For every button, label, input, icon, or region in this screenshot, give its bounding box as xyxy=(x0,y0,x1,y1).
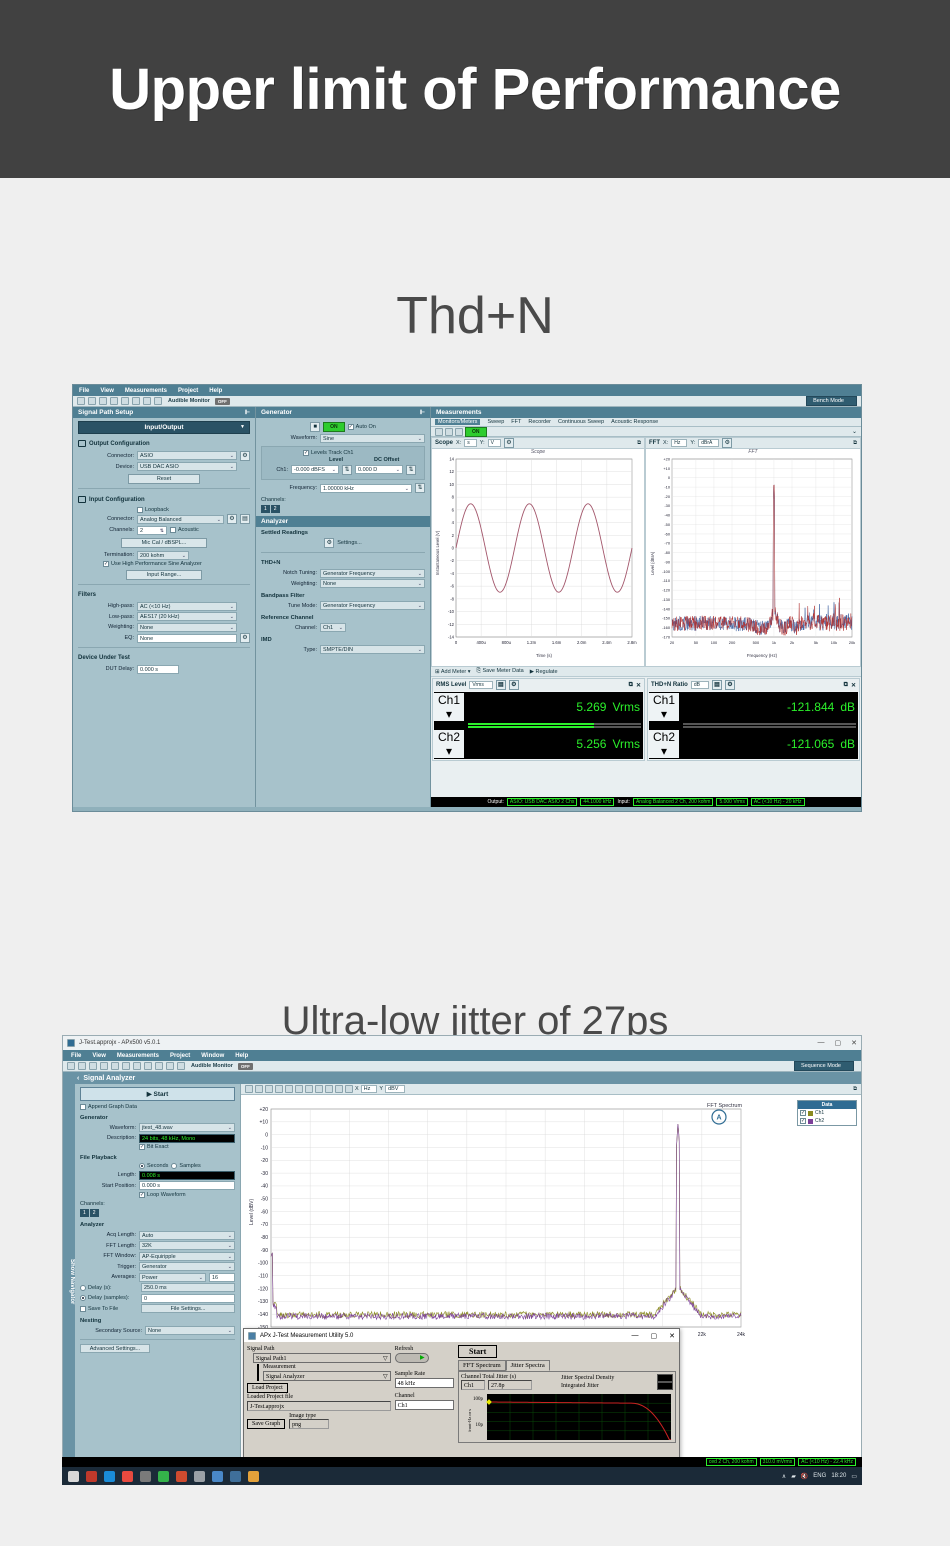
table-view-icon[interactable] xyxy=(315,1085,323,1093)
load-project-button[interactable]: Load Project xyxy=(247,1383,288,1393)
group-label: Filters xyxy=(78,592,96,598)
channel-pill-2[interactable]: 2 xyxy=(271,505,280,513)
jtest-taskbar-icon[interactable] xyxy=(230,1471,241,1482)
graph-x-unit-select[interactable]: Hz xyxy=(361,1085,378,1093)
new-project-icon[interactable] xyxy=(67,1062,75,1070)
checkbox-icon xyxy=(170,527,176,533)
menu-file[interactable]: File xyxy=(71,1053,81,1059)
status-input-filter: AC (<10 Hz) - 20 kHz xyxy=(751,798,805,806)
signal-path-setup-title: Signal Path Setup ⊩ xyxy=(73,407,255,418)
breadcrumb: ‹ Signal Analyzer xyxy=(63,1072,861,1084)
speaker-icon[interactable] xyxy=(177,1062,185,1070)
scope-settings-button[interactable]: ⚙ xyxy=(504,438,514,448)
save-to-file-row: Save To File File Settings... xyxy=(80,1304,235,1313)
svg-text:100: 100 xyxy=(711,640,718,645)
notifications-icon[interactable]: ▭ xyxy=(851,1473,857,1480)
lowpass-select[interactable]: AES17 (20 kHz) ⌄ xyxy=(137,612,237,621)
ch1-dc-stepper[interactable]: ⇅ xyxy=(406,465,416,475)
legend-item-ch2[interactable]: ✓ Ch2 xyxy=(798,1117,856,1125)
delay-seconds-field[interactable]: 250.0 ms xyxy=(141,1283,235,1292)
checkbox-icon xyxy=(80,1306,86,1312)
tab-continuous-sweep[interactable]: Continuous Sweep xyxy=(558,419,604,425)
highpass-row: High-pass: AC (<10 Hz) ⌄ xyxy=(78,602,250,611)
value-number: 5.256 xyxy=(576,737,606,751)
input-connector-settings-button[interactable]: ⚙ xyxy=(227,514,237,524)
menu-help[interactable]: Help xyxy=(209,388,222,394)
fft-plot: +20+100-10-20-30-40-50-60-70-80-90-100-1… xyxy=(646,455,860,661)
svg-text:-12: -12 xyxy=(448,622,455,627)
value-unit: Vrms xyxy=(612,700,640,714)
scope-xlabel: Time (s) xyxy=(536,653,552,658)
scope-y-unit-select[interactable]: V xyxy=(488,439,501,447)
expand-graph-icon[interactable] xyxy=(295,1085,303,1093)
reference-channel-label: Channel: xyxy=(261,625,317,631)
meter-thdn-close-icon[interactable]: ✕ xyxy=(851,682,856,689)
radio-icon xyxy=(80,1285,86,1291)
high-performance-sine-analyzer-checkbox[interactable]: ✓ Use High Performance Sine Analyzer xyxy=(103,561,202,567)
input-connector-row: Connector: Analog Balanced ⌄ ⚙ ▤ xyxy=(78,514,250,524)
scope-popout-icon[interactable]: ⧉ xyxy=(637,440,641,447)
filter-weighting-select[interactable]: None ⌄ xyxy=(137,623,237,632)
meter-rms-unit-select[interactable]: Vrms xyxy=(469,681,492,689)
regulate-button[interactable]: ▶ Regulate xyxy=(530,669,558,675)
panel-label: Measurements xyxy=(436,409,482,416)
menu-view[interactable]: View xyxy=(100,388,114,394)
bit-exact-checkbox[interactable]: ✓ Bit Exact xyxy=(139,1144,169,1150)
open-project-icon[interactable] xyxy=(88,397,96,405)
system-tray: ∧ ▰ 🔇 ENG 18:20 ▭ xyxy=(782,1473,862,1480)
menu-view[interactable]: View xyxy=(92,1053,106,1059)
svg-text:-60: -60 xyxy=(261,1209,268,1215)
zoom-graph-icon[interactable] xyxy=(275,1085,283,1093)
tab-jitter-spectra[interactable]: Jitter Spectra xyxy=(506,1360,550,1371)
sample-rate-field[interactable]: 48 kHz xyxy=(395,1378,454,1388)
save-project-icon[interactable] xyxy=(99,397,107,405)
graph-pair: Scope X: s Y: V ⚙ ⧉ Scope 14121086420-2-… xyxy=(431,437,861,667)
clock[interactable]: 18:20 xyxy=(831,1473,846,1479)
meter-bar-ch2 xyxy=(683,726,856,728)
settings-gear-icon[interactable] xyxy=(100,1062,108,1070)
browser-icon[interactable] xyxy=(86,1471,97,1482)
channel-pill-2[interactable]: 2 xyxy=(90,1209,99,1217)
meter-thdn-name: THD+N Ratio xyxy=(651,682,688,688)
delay-samples-field[interactable]: 0 xyxy=(141,1294,235,1303)
svg-text:10: 10 xyxy=(449,482,454,487)
fft-length-label: FFT Length: xyxy=(80,1243,136,1249)
divider xyxy=(261,552,425,553)
highpass-select[interactable]: AC (<10 Hz) ⌄ xyxy=(137,602,237,611)
value-text: AP-Equiripple xyxy=(142,1254,176,1260)
meter-thdn-unit-select[interactable]: dB xyxy=(691,681,709,689)
dut-delay-field[interactable]: 0.000 s xyxy=(137,665,179,674)
app-icon-5[interactable] xyxy=(140,1471,151,1482)
menu-project[interactable]: Project xyxy=(178,388,198,394)
fft-window-select[interactable]: AP-Equiripple ⌄ xyxy=(139,1252,235,1261)
append-graph-checkbox[interactable]: Append Graph Data xyxy=(80,1104,137,1110)
meter-thdn-popout-icon[interactable]: ⧉ xyxy=(844,682,848,689)
signal-path-icon[interactable] xyxy=(121,397,129,405)
tune-mode-label: Tune Mode: xyxy=(261,603,317,609)
copy-graph-icon[interactable] xyxy=(255,1085,263,1093)
minimize-icon[interactable]: — xyxy=(632,1332,639,1340)
channel-pill-1[interactable]: 1 xyxy=(261,505,270,513)
new-project-icon[interactable] xyxy=(77,397,85,405)
legend-integrated-label: Integrated Jitter xyxy=(561,1383,655,1389)
legend-label-ch1: Ch1 xyxy=(815,1110,824,1116)
meter-thdn-header: THD+N Ratio dB ▤ ⚙ ⧉ ✕ xyxy=(648,679,859,691)
svg-text:-110: -110 xyxy=(663,578,671,583)
signal-path-selector[interactable]: Input/Output ▼ xyxy=(78,421,250,434)
delay-samples-label: Delay (samples): xyxy=(88,1295,129,1301)
tab-sweep[interactable]: Sweep xyxy=(487,419,504,425)
generator-title: Generator ⊩ xyxy=(256,407,430,418)
svg-text:+10: +10 xyxy=(260,1120,269,1126)
auto-on-checkbox[interactable]: ✓ Auto On xyxy=(348,424,376,430)
filters-group: Filters xyxy=(73,589,255,600)
fft-popout-icon[interactable]: ⧉ xyxy=(853,440,857,447)
checkbox-checked-icon[interactable]: ✓ xyxy=(800,1118,806,1124)
settled-settings-icon[interactable]: ⚙ xyxy=(324,538,334,548)
chevron-down-icon: ⌄ xyxy=(228,1242,232,1251)
refresh-toggle[interactable]: ▶ xyxy=(395,1353,429,1363)
loopback-row: Loopback xyxy=(78,507,250,513)
fft-length-select[interactable]: 32K ⌄ xyxy=(139,1241,235,1250)
jitter-ytick-100p: 100p xyxy=(473,1397,484,1402)
save-graph-button[interactable]: Save Graph xyxy=(247,1419,285,1429)
channel-label: Channel xyxy=(395,1393,454,1399)
value-text: Auto xyxy=(142,1233,153,1239)
svg-text:-30: -30 xyxy=(664,503,670,508)
group-label: Output Configuration xyxy=(89,441,150,447)
group-label: Input Configuration xyxy=(89,497,145,503)
signal-path-icon[interactable] xyxy=(144,1062,152,1070)
svg-text:-40: -40 xyxy=(664,513,670,518)
meter-rms-close-icon[interactable]: ✕ xyxy=(636,682,641,689)
file-explorer-icon[interactable] xyxy=(248,1471,259,1482)
eq-field[interactable]: None xyxy=(137,634,237,643)
start-button[interactable]: ▶ Start xyxy=(80,1087,235,1101)
close-icon[interactable]: ✕ xyxy=(669,1332,675,1340)
bars-icon[interactable] xyxy=(122,1062,130,1070)
loop-waveform-checkbox[interactable]: ✓ Loop Waveform xyxy=(139,1192,186,1198)
save-meter-data-label: Save Meter Data xyxy=(482,668,523,674)
input-channels-stepper[interactable]: 2 ⇅ xyxy=(137,526,167,535)
fit-graph-icon[interactable] xyxy=(285,1085,293,1093)
meter-thdn-config-icon[interactable]: ▤ xyxy=(712,680,722,690)
frequency-row: Frequency: 1.00000 kHz ⌄ ⇅ xyxy=(261,483,425,493)
waveform-row: Waveform: Sine ⌄ xyxy=(261,434,425,443)
termination-select[interactable]: 200 kohm ⌄ xyxy=(137,551,189,560)
input-range-button[interactable]: Input Range... xyxy=(126,570,202,580)
frequency-field[interactable]: 1.00000 kHz ⌄ xyxy=(320,484,412,493)
signal-analyzer-controls: ▶ Start Append Graph Data Generator Wave… xyxy=(75,1084,240,1466)
secondary-source-label: Secondary Source: xyxy=(80,1328,142,1334)
start-position-label: Start Position: xyxy=(80,1183,136,1189)
audible-monitor-toggle[interactable]: OFF xyxy=(215,398,230,405)
acoustic-checkbox[interactable]: Acoustic xyxy=(170,527,199,533)
description-value: 24 bits, 48 kHz, Mono xyxy=(139,1134,235,1143)
meter-rms-config-icon[interactable]: ▤ xyxy=(496,680,506,690)
channel-pills: 1 2 xyxy=(80,1209,235,1217)
chevron-down-icon: ⌄ xyxy=(230,603,234,612)
delay-samples-radio[interactable]: Delay (samples): xyxy=(80,1295,138,1301)
apx1-menubar: File View Measurements Project Help xyxy=(73,385,861,396)
refresh-icon[interactable] xyxy=(455,428,463,436)
print-graph-icon[interactable] xyxy=(265,1085,273,1093)
length-value[interactable]: 0.008 s xyxy=(139,1171,235,1180)
chevron-down-icon: ⌄ xyxy=(228,1124,232,1133)
meter-thdn-ch2-label[interactable]: Ch2 ▾ xyxy=(649,730,679,758)
acq-length-select[interactable]: Auto ⌄ xyxy=(139,1231,235,1240)
start-menu-icon[interactable] xyxy=(68,1471,79,1482)
delay-seconds-row: Delay (s): 250.0 ms xyxy=(80,1283,235,1292)
graph-settings-icon[interactable] xyxy=(345,1085,353,1093)
tab-acoustic-response[interactable]: Acoustic Response xyxy=(611,419,658,425)
fft-name: FFT xyxy=(649,440,660,446)
fft-x-unit-select[interactable]: Hz xyxy=(671,439,687,447)
notch-tuning-select[interactable]: Generator Frequency ⌄ xyxy=(320,569,425,578)
jtest-title-label: APx J-Test Measurement Utility 5.0 xyxy=(260,1333,353,1339)
meter-rms-ch1-label[interactable]: Ch1 ▾ xyxy=(434,693,464,721)
mic-cal-button[interactable]: Mic Cal / dBSPL... xyxy=(121,538,207,548)
chevron-down-icon: ▼ xyxy=(240,424,245,430)
ch1-dc-offset-field[interactable]: 0.000 D ⌄ xyxy=(355,465,403,474)
meters-icon[interactable] xyxy=(132,397,140,405)
averages-select[interactable]: Power ⌄ xyxy=(139,1273,206,1282)
fft-settings-button[interactable]: ⚙ xyxy=(722,438,732,448)
wechat-icon[interactable] xyxy=(158,1471,169,1482)
save-icon[interactable] xyxy=(435,428,443,436)
svg-text:-90: -90 xyxy=(664,559,670,564)
meter-thdn-ch2-value: -121.065dB xyxy=(681,737,858,751)
save-to-file-checkbox[interactable]: Save To File xyxy=(80,1306,138,1312)
checkbox-checked-icon[interactable]: ✓ xyxy=(800,1110,806,1116)
meter-rms-settings-icon[interactable]: ⚙ xyxy=(509,680,519,690)
open-project-icon[interactable] xyxy=(78,1062,86,1070)
save-meter-data-button[interactable]: ⎘ Save Meter Data xyxy=(477,668,524,675)
delay-seconds-radio[interactable]: Delay (s): xyxy=(80,1285,138,1291)
speaker-icon[interactable] xyxy=(154,397,162,405)
chrome-icon[interactable] xyxy=(122,1471,133,1482)
apx500-taskbar-icon[interactable] xyxy=(212,1471,223,1482)
analyzer-weighting-select[interactable]: None ⌄ xyxy=(320,579,425,588)
bench-mode-button[interactable]: Bench Mode xyxy=(806,396,857,406)
settings-gear-icon[interactable] xyxy=(110,397,118,405)
image-type-value[interactable]: png xyxy=(289,1419,329,1429)
tune-mode-select[interactable]: Generator Frequency ⌄ xyxy=(320,601,425,610)
chevron-down-icon: ⌄ xyxy=(230,613,234,622)
chevron-down-icon: ⌄ xyxy=(396,466,400,475)
fft-graph-cell: FFT X: Hz Y: dBrA ⚙ ⧉ FFT +20+100-10-20-… xyxy=(645,437,861,667)
menu-window[interactable]: Window xyxy=(201,1053,224,1059)
svg-text:24k: 24k xyxy=(737,1332,746,1338)
tray-chevron-icon[interactable]: ∧ xyxy=(782,1473,786,1480)
edge-icon[interactable] xyxy=(104,1471,115,1482)
dut-group: Device Under Test xyxy=(73,652,255,663)
scope-x-unit-select[interactable]: s xyxy=(464,439,477,447)
menu-measurements[interactable]: Measurements xyxy=(125,388,167,394)
meter-bar-ch1 xyxy=(683,723,856,725)
waveform-select[interactable]: Sine ⌄ xyxy=(320,434,425,443)
tab-fft[interactable]: FFT xyxy=(511,419,521,425)
meter-rms-popout-icon[interactable]: ⧉ xyxy=(629,682,633,689)
loopback-checkbox[interactable]: Loopback xyxy=(137,507,169,513)
output-device-select[interactable]: USB DAC ASIO ⌄ xyxy=(137,462,237,471)
measurement-combo[interactable]: Signal Analyzer ▽ xyxy=(263,1371,391,1381)
save-project-icon[interactable] xyxy=(89,1062,97,1070)
value-text: -0.000 dBFS xyxy=(294,467,325,473)
graph-popout-icon[interactable]: ⧉ xyxy=(853,1086,857,1093)
meter-thdn-ch1-label[interactable]: Ch1 ▾ xyxy=(649,693,679,721)
generator-stop-button[interactable]: ■ xyxy=(310,422,320,432)
start-position-field[interactable]: 0.000 s xyxy=(139,1181,235,1190)
input-connector-select[interactable]: Analog Balanced ⌄ xyxy=(137,515,224,524)
svg-text:-120: -120 xyxy=(258,1286,268,1292)
seconds-radio[interactable]: Seconds xyxy=(139,1163,168,1169)
channels-label: Channels: xyxy=(75,1199,240,1207)
fft2-ylabel: Level (dBV) xyxy=(249,1199,255,1225)
waveform-icon[interactable] xyxy=(111,1062,119,1070)
measurements-title: Measurements xyxy=(431,407,861,418)
channel-field[interactable]: Ch1 xyxy=(395,1400,454,1410)
svg-text:-10: -10 xyxy=(261,1145,268,1151)
dc-offset-header: DC Offset xyxy=(374,457,416,463)
radio-selected-icon xyxy=(80,1295,86,1301)
chevron-down-icon: ⌄ xyxy=(418,580,422,589)
back-chevron-icon[interactable]: ‹ xyxy=(77,1075,79,1082)
secondary-source-select[interactable]: None ⌄ xyxy=(145,1326,235,1335)
averages-count-stepper[interactable]: 16 xyxy=(209,1273,235,1282)
dut-delay-row: DUT Delay: 0.000 s xyxy=(78,665,250,674)
measurement-branch: Measurement Signal Analyzer ▽ xyxy=(257,1364,391,1381)
reset-button[interactable]: Reset xyxy=(128,474,200,484)
tab-recorder[interactable]: Recorder xyxy=(528,419,551,425)
checkbox-checked-icon: ✓ xyxy=(139,1144,145,1150)
levels-track-checkbox[interactable]: ✓ Levels Track Ch1 xyxy=(303,450,421,456)
svg-text:12: 12 xyxy=(449,469,454,474)
network-icon[interactable]: ▰ xyxy=(791,1473,796,1480)
crosshair-icon[interactable] xyxy=(305,1085,313,1093)
imd-type-select[interactable]: SMPTE/DIN ⌄ xyxy=(320,645,425,654)
generator-on-toggle[interactable]: ON xyxy=(323,422,345,432)
monitors-on-toggle[interactable]: ON xyxy=(465,427,487,437)
measurements-panel: Measurements Monitors/Meters Sweep FFT R… xyxy=(431,407,861,807)
jtest-start-button[interactable]: Start xyxy=(458,1345,497,1358)
checkbox-checked-icon: ✓ xyxy=(103,561,109,567)
sweep-icon[interactable] xyxy=(143,397,151,405)
frequency-stepper[interactable]: ⇅ xyxy=(415,483,425,493)
meter-rms-level: RMS Level Vrms ▤ ⚙ ⧉ ✕ Ch1 ▾ 5.269Vrms xyxy=(432,678,645,761)
meters-view-icon[interactable] xyxy=(445,428,453,436)
tab-monitors-meters[interactable]: Monitors/Meters xyxy=(435,419,480,425)
reference-channel-select[interactable]: Ch1 ⌄ xyxy=(320,623,346,632)
meters-icon[interactable] xyxy=(155,1062,163,1070)
report-icon[interactable] xyxy=(133,1062,141,1070)
save-graph-icon[interactable] xyxy=(245,1085,253,1093)
samples-radio[interactable]: Samples xyxy=(171,1163,200,1169)
signal-path-combo[interactable]: Signal Path1 ▽ xyxy=(253,1353,391,1363)
audible-monitor-toggle[interactable]: OFF xyxy=(238,1063,253,1070)
legend-integrated-swatch xyxy=(657,1382,673,1390)
meter-thdn-settings-icon[interactable]: ⚙ xyxy=(725,680,735,690)
svg-text:0: 0 xyxy=(668,475,671,480)
trigger-select[interactable]: Generator ⌄ xyxy=(139,1262,235,1271)
panel-label: Analyzer xyxy=(261,518,288,525)
waveform-select[interactable]: jtest_48.wav ⌄ xyxy=(139,1123,235,1132)
apx2-titlebar: J-Test.approjx - APx500 v5.0.1 — ▢ ✕ xyxy=(63,1036,861,1050)
meter-toolbar: ⊞ Add Meter ▾ ⎘ Save Meter Data ▶ Regula… xyxy=(431,667,861,677)
svg-text:-100: -100 xyxy=(662,569,671,574)
app-icon-8[interactable] xyxy=(194,1471,205,1482)
markers-icon[interactable] xyxy=(335,1085,343,1093)
apx500-bench-window: File View Measurements Project Help Audi… xyxy=(72,384,862,812)
pin-icon[interactable]: ⊩ xyxy=(245,409,250,416)
advanced-settings-button[interactable]: Advanced Settings... xyxy=(80,1344,150,1353)
menu-project[interactable]: Project xyxy=(170,1053,190,1059)
app-logo-icon xyxy=(67,1039,75,1047)
volume-muted-icon[interactable]: 🔇 xyxy=(801,1473,808,1480)
file-settings-button[interactable]: File Settings... xyxy=(141,1304,235,1313)
output-connector-select[interactable]: ASIO ⌄ xyxy=(137,451,237,460)
apx1-statusbar: Output: ASIO: USB DAC ASIO 2 Chs 44.1000… xyxy=(431,797,861,807)
chevron-down-icon: ⌄ xyxy=(339,624,343,633)
jitter-ylabel: /root-Hz or s xyxy=(467,1409,472,1432)
legend-jsd: Jitter Spectral Density xyxy=(561,1374,673,1382)
minimize-icon[interactable]: — xyxy=(818,1039,825,1047)
section-heading-thdn: Thd+N xyxy=(0,286,950,346)
eq-settings-button[interactable]: ⚙ xyxy=(240,633,250,643)
output-arrow-icon xyxy=(78,440,86,447)
audible-monitor-label: Audible Monitor xyxy=(168,398,210,404)
show-navigator-strip[interactable]: Show Navigator xyxy=(63,1084,75,1466)
app-icon-7[interactable] xyxy=(176,1471,187,1482)
fft-y-unit-select[interactable]: dBrA xyxy=(698,439,719,447)
language-indicator[interactable]: ENG xyxy=(813,1473,826,1479)
meter-thdn-ratio: THD+N Ratio dB ▤ ⚙ ⧉ ✕ Ch1 ▾ -121.844dB xyxy=(647,678,860,761)
lowpass-row: Low-pass: AES17 (20 kHz) ⌄ xyxy=(78,612,250,621)
meter-rms-ch2-label[interactable]: Ch2 ▾ xyxy=(434,730,464,758)
output-connector-settings-button[interactable]: ⚙ xyxy=(240,451,250,461)
menu-file[interactable]: File xyxy=(79,388,89,394)
value-text: Generator Frequency xyxy=(323,571,375,577)
thdn-group: THD+N xyxy=(256,557,430,567)
value-text: None xyxy=(148,1328,161,1334)
legend-item-ch1[interactable]: ✓ Ch1 xyxy=(798,1109,856,1117)
svg-text:5k: 5k xyxy=(814,640,818,645)
cursor-icon[interactable] xyxy=(325,1085,333,1093)
ch1-level-field[interactable]: -0.000 dBFS ⌄ xyxy=(291,465,339,474)
pin-icon[interactable]: ⊩ xyxy=(420,409,425,416)
close-icon[interactable]: ✕ xyxy=(851,1039,857,1047)
graph-y-unit-select[interactable]: dBV xyxy=(385,1085,405,1093)
maximize-icon[interactable]: ▢ xyxy=(835,1039,842,1047)
waveform-row: Waveform: jtest_48.wav ⌄ xyxy=(80,1123,235,1132)
channel-pill-1[interactable]: 1 xyxy=(80,1209,89,1217)
start-position-row: Start Position: 0.000 s xyxy=(80,1181,235,1190)
input-connector-table-button[interactable]: ▤ xyxy=(240,514,250,524)
sequence-mode-button[interactable]: Sequence Mode xyxy=(794,1061,854,1071)
collapse-icon[interactable]: ⌄ xyxy=(852,428,857,435)
settled-settings-button[interactable]: Settings... xyxy=(337,540,361,546)
ch1-level-stepper[interactable]: ⇅ xyxy=(342,465,352,475)
add-meter-button[interactable]: ⊞ Add Meter ▾ xyxy=(435,669,471,675)
svg-text:-14: -14 xyxy=(448,635,455,640)
sweep-icon[interactable] xyxy=(166,1062,174,1070)
menu-help[interactable]: Help xyxy=(235,1053,248,1059)
tab-fft-spectrum[interactable]: FFT Spectrum xyxy=(458,1360,506,1371)
menu-measurements[interactable]: Measurements xyxy=(117,1053,159,1059)
maximize-icon[interactable]: ▢ xyxy=(651,1332,658,1340)
